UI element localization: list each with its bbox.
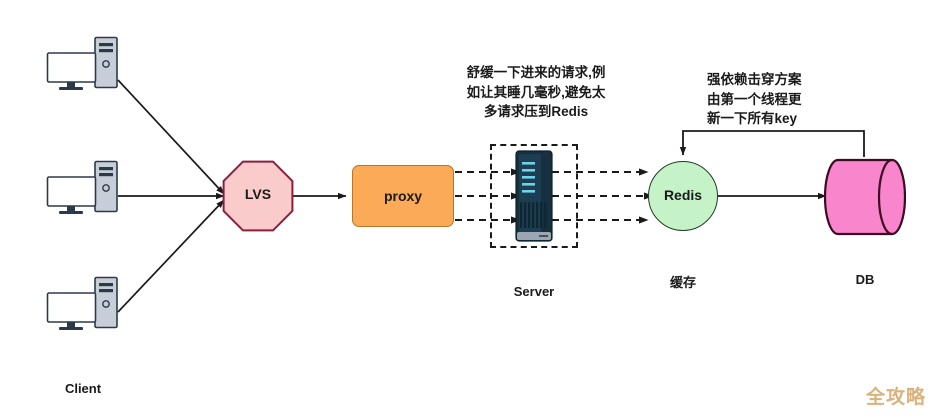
server-rack-icon xyxy=(515,150,553,242)
client-bottom xyxy=(46,276,120,332)
node-proxy[interactable]: proxy xyxy=(352,165,454,227)
desktop-computer-icon xyxy=(46,160,120,216)
annotation-proxy-note-line2: 如让其睡几毫秒,避免太 xyxy=(433,83,639,103)
desktop-computer-icon xyxy=(46,276,120,332)
db-caption: DB xyxy=(824,272,906,287)
node-server[interactable] xyxy=(515,150,553,242)
node-lvs[interactable]: LVS xyxy=(222,160,294,232)
client-caption: Client xyxy=(46,381,120,396)
node-proxy-label: proxy xyxy=(353,166,453,226)
annotation-redis-note-line2: 由第一个线程更 xyxy=(707,90,867,110)
node-lvs-label: LVS xyxy=(222,186,294,202)
annotation-proxy-note-line1: 舒缓一下进来的请求,例 xyxy=(433,63,639,83)
watermark: 全攻略 xyxy=(866,382,926,409)
database-cylinder-icon xyxy=(824,158,906,236)
annotation-proxy-note: 舒缓一下进来的请求,例 如让其睡几毫秒,避免太 多请求压到Redis xyxy=(433,63,639,122)
annotation-redis-note: 强依赖击穿方案 由第一个线程更 新一下所有key xyxy=(707,70,867,129)
annotation-proxy-note-line3: 多请求压到Redis xyxy=(433,102,639,122)
client-middle xyxy=(46,160,120,216)
desktop-computer-icon xyxy=(46,36,120,92)
node-redis[interactable]: Redis xyxy=(648,161,718,231)
diagram-canvas: Client LVS proxy xyxy=(0,0,951,415)
server-caption: Server xyxy=(490,284,578,299)
cache-caption: 缓存 xyxy=(648,272,718,291)
client-top xyxy=(46,36,120,92)
node-redis-label: Redis xyxy=(649,162,717,229)
annotation-redis-note-line1: 强依赖击穿方案 xyxy=(707,70,867,90)
node-db[interactable] xyxy=(824,158,906,236)
annotation-redis-note-line3: 新一下所有key xyxy=(707,109,867,129)
